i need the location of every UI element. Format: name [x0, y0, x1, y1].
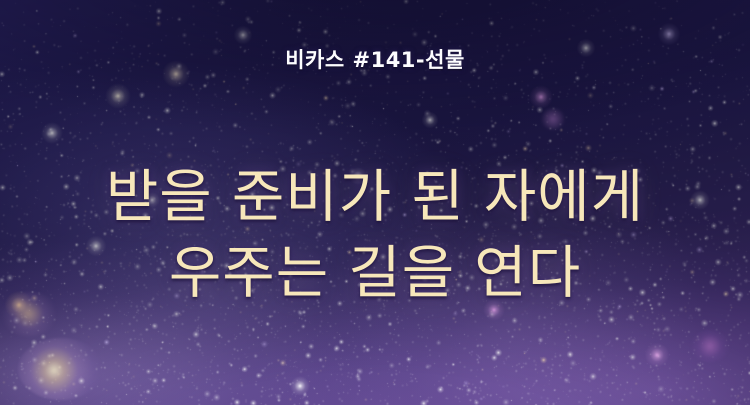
quote-line-1: 받을 준비가 된 자에게 [0, 160, 750, 236]
quote-block: 받을 준비가 된 자에게 우주는 길을 연다 [0, 160, 750, 312]
quote-card: 비카스 #141-선물 받을 준비가 된 자에게 우주는 길을 연다 [0, 0, 750, 405]
card-title: 비카스 #141-선물 [0, 44, 750, 74]
quote-line-2: 우주는 길을 연다 [0, 236, 750, 312]
